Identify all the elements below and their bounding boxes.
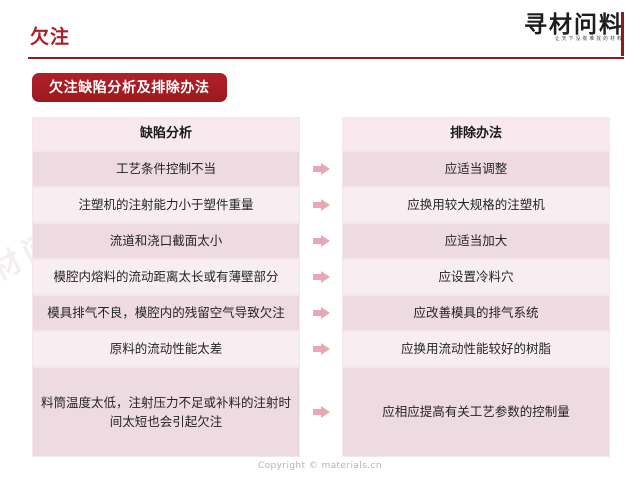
arrow-cell — [300, 295, 342, 331]
table-row: 原料的流动性能太差 — [32, 331, 300, 367]
table-row: 应改善模具的排气系统 — [342, 295, 610, 331]
arrow-cell — [300, 223, 342, 259]
table-header-causes: 缺陷分析 — [32, 117, 300, 151]
table-row: 应相应提高有关工艺参数的控制量 — [342, 367, 610, 457]
arrow-cell — [300, 187, 342, 223]
table-row: 工艺条件控制不当 — [32, 151, 300, 187]
arrow-right-icon — [313, 163, 330, 176]
arrow-right-icon — [313, 343, 330, 356]
page-header: 欠注 寻材问料 让天下没有难找的材料 — [0, 0, 640, 62]
brand-logo-tagline: 让天下没有难找的材料 — [499, 38, 624, 43]
brand-logo-bar — [621, 12, 624, 56]
table-row: 应换用流动性能较好的树脂 — [342, 331, 610, 367]
table-row: 流道和浇口截面太小 — [32, 223, 300, 259]
arrow-cell — [300, 259, 342, 295]
brand-logo-mark: 寻材问料 — [499, 12, 624, 37]
section-badge: 欠注缺陷分析及排除办法 — [32, 73, 227, 102]
table-row: 应设置冷料穴 — [342, 259, 610, 295]
arrow-right-icon — [313, 199, 330, 212]
table-row: 应换用较大规格的注塑机 — [342, 187, 610, 223]
table-row: 模具排气不良，模腔内的残留空气导致欠注 — [32, 295, 300, 331]
arrow-right-icon — [313, 271, 330, 284]
table-row: 料筒温度太低，注射压力不足或补料的注射时间太短也会引起欠注 — [32, 367, 300, 457]
table-row: 应适当加大 — [342, 223, 610, 259]
arrow-cell — [300, 367, 342, 457]
brand-logo: 寻材问料 让天下没有难找的材料 — [499, 12, 624, 56]
table-row: 注塑机的注射能力小于塑件重量 — [32, 187, 300, 223]
table-header-spacer — [300, 117, 342, 151]
footer-copyright: Copyright © materials.cn — [0, 461, 640, 471]
arrow-right-icon — [313, 406, 330, 419]
table-column-arrows — [300, 117, 342, 457]
table-column-remedies: 排除办法应适当调整应换用较大规格的注塑机应适当加大应设置冷料穴应改善模具的排气系… — [342, 117, 610, 457]
page-title: 欠注 — [30, 28, 70, 47]
arrow-cell — [300, 331, 342, 367]
table-row: 应适当调整 — [342, 151, 610, 187]
slide-page: 寻材问料 欠注 寻材问料 让天下没有难找的材料 欠注缺陷分析及排除办法 缺陷分析… — [0, 0, 640, 480]
arrow-right-icon — [313, 307, 330, 320]
table-row: 模腔内熔料的流动距离太长或有薄壁部分 — [32, 259, 300, 295]
arrow-right-icon — [313, 235, 330, 248]
section-badge-label: 欠注缺陷分析及排除办法 — [49, 81, 210, 95]
analysis-table: 缺陷分析工艺条件控制不当注塑机的注射能力小于塑件重量流道和浇口截面太小模腔内熔料… — [32, 117, 610, 457]
arrow-cell — [300, 151, 342, 187]
table-column-causes: 缺陷分析工艺条件控制不当注塑机的注射能力小于塑件重量流道和浇口截面太小模腔内熔料… — [32, 117, 300, 457]
table-header-remedies: 排除办法 — [342, 117, 610, 151]
